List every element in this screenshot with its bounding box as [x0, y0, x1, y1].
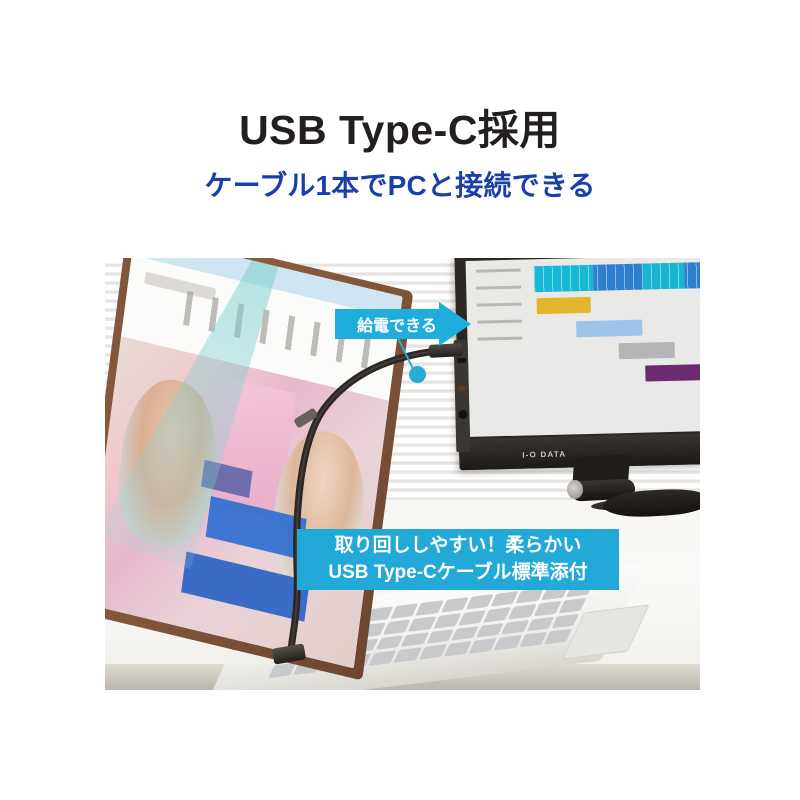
hdmi-port [458, 386, 467, 391]
keyboard-key [483, 607, 511, 622]
gantt-row-label [475, 268, 521, 272]
heading-block: USB Type-C採用 ケーブル1本でPCと接続できる [0, 108, 800, 202]
external-monitor: I-O DATA [454, 258, 700, 470]
gantt-bar [537, 297, 591, 314]
keyboard-key [501, 619, 529, 634]
gantt-row-labels [475, 268, 536, 393]
monitor-port-panel [454, 340, 471, 452]
keyboard-key [401, 632, 429, 647]
page-title: USB Type-C採用 [0, 108, 800, 153]
callout-anchor-dot [409, 366, 426, 383]
keyboard-key [390, 603, 418, 618]
keyboard-key [433, 613, 461, 628]
keyboard-key [533, 601, 561, 616]
monitor-stand-hinge-cap [567, 480, 583, 499]
keyboard-key [458, 610, 486, 625]
keyboard-key [508, 604, 536, 619]
brand-logo: I-O DATA [522, 450, 566, 460]
gantt-timeline-ticks [534, 262, 700, 293]
gantt-bar [576, 320, 642, 337]
keyboard-key [476, 623, 504, 638]
audio-jack-port [458, 410, 467, 419]
gantt-bar [646, 364, 700, 382]
power-delivery-arrow-callout: 給電できる [335, 302, 471, 346]
cable-feature-line-1: 取り回ししやすい！柔らかい [335, 533, 582, 560]
gantt-bar [618, 342, 674, 359]
monitor-screen [466, 258, 700, 437]
keyboard-key [451, 626, 479, 641]
usb-c-port [457, 358, 466, 363]
keyboard-key [426, 629, 454, 644]
keyboard-key [416, 600, 444, 615]
keyboard-key [466, 594, 494, 609]
gantt-row-label [477, 319, 523, 323]
gantt-row-label [477, 336, 523, 340]
keyboard-key [408, 616, 436, 631]
page-subtitle: ケーブル1本でPCと接続できる [0, 171, 800, 202]
gantt-row-label [476, 285, 522, 289]
gantt-timeline-header [534, 262, 700, 293]
keyboard-key [516, 588, 544, 603]
keyboard-key [441, 597, 469, 612]
keyboard-key [526, 616, 554, 631]
cable-feature-line-2: USB Type-Cケーブル標準添付 [328, 560, 587, 587]
keyboard-key [491, 591, 519, 606]
keyboard-key [383, 619, 411, 634]
keyboard-key [376, 635, 404, 650]
gantt-row-label [476, 302, 522, 306]
cable-feature-callout: 取り回ししやすい！柔らかい USB Type-Cケーブル標準添付 [297, 529, 619, 590]
